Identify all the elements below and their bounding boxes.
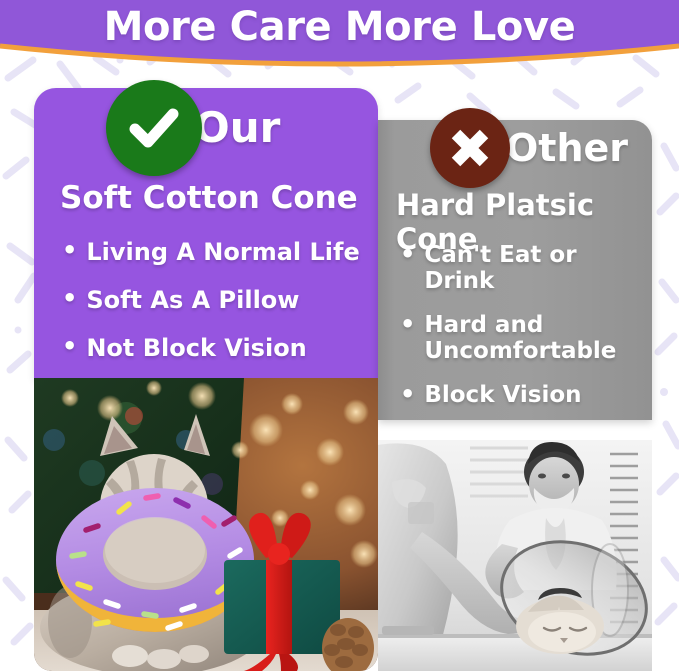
list-item: • Can't Eat or Drink (400, 242, 650, 294)
our-benefit-list: • Living A Normal Life • Soft As A Pillo… (62, 238, 372, 382)
other-drawback-list: • Can't Eat or Drink • Hard and Uncomfor… (400, 242, 650, 426)
header-banner: More Care More Love (0, 0, 679, 78)
list-item-label: Soft As A Pillow (86, 286, 299, 314)
list-item-label: Living A Normal Life (86, 238, 359, 266)
check-circle-icon (106, 80, 202, 176)
list-item-label: Not Block Vision (86, 334, 306, 362)
bullet-dot-icon: • (400, 312, 415, 336)
bullet-dot-icon: • (62, 286, 77, 310)
list-item: • Not Block Vision (62, 334, 372, 362)
bullet-dot-icon: • (400, 382, 415, 406)
list-item: • Hard and Uncomfortable (400, 312, 650, 364)
x-circle-icon (430, 108, 510, 188)
other-heading-label: Other (506, 129, 628, 167)
list-item-label: Block Vision (424, 382, 581, 408)
list-item: • Soft As A Pillow (62, 286, 372, 314)
page-title: More Care More Love (0, 4, 679, 50)
our-heading-label: Our (194, 107, 280, 149)
list-item-label: Hard and Uncomfortable (424, 312, 650, 364)
list-item-label: Can't Eat or Drink (424, 242, 650, 294)
our-heading-row: Our (106, 80, 280, 176)
other-heading-row: Other (430, 108, 628, 188)
bullet-dot-icon: • (62, 238, 77, 262)
list-item: • Block Vision (400, 382, 650, 408)
our-product-photo-image (34, 378, 378, 671)
our-subtitle: Soft Cotton Cone (60, 180, 358, 216)
other-product-photo (378, 440, 652, 671)
bullet-dot-icon: • (400, 242, 415, 266)
our-product-photo (34, 378, 378, 671)
other-product-photo-image (378, 440, 652, 671)
list-item: • Living A Normal Life (62, 238, 372, 266)
bullet-dot-icon: • (62, 334, 77, 358)
